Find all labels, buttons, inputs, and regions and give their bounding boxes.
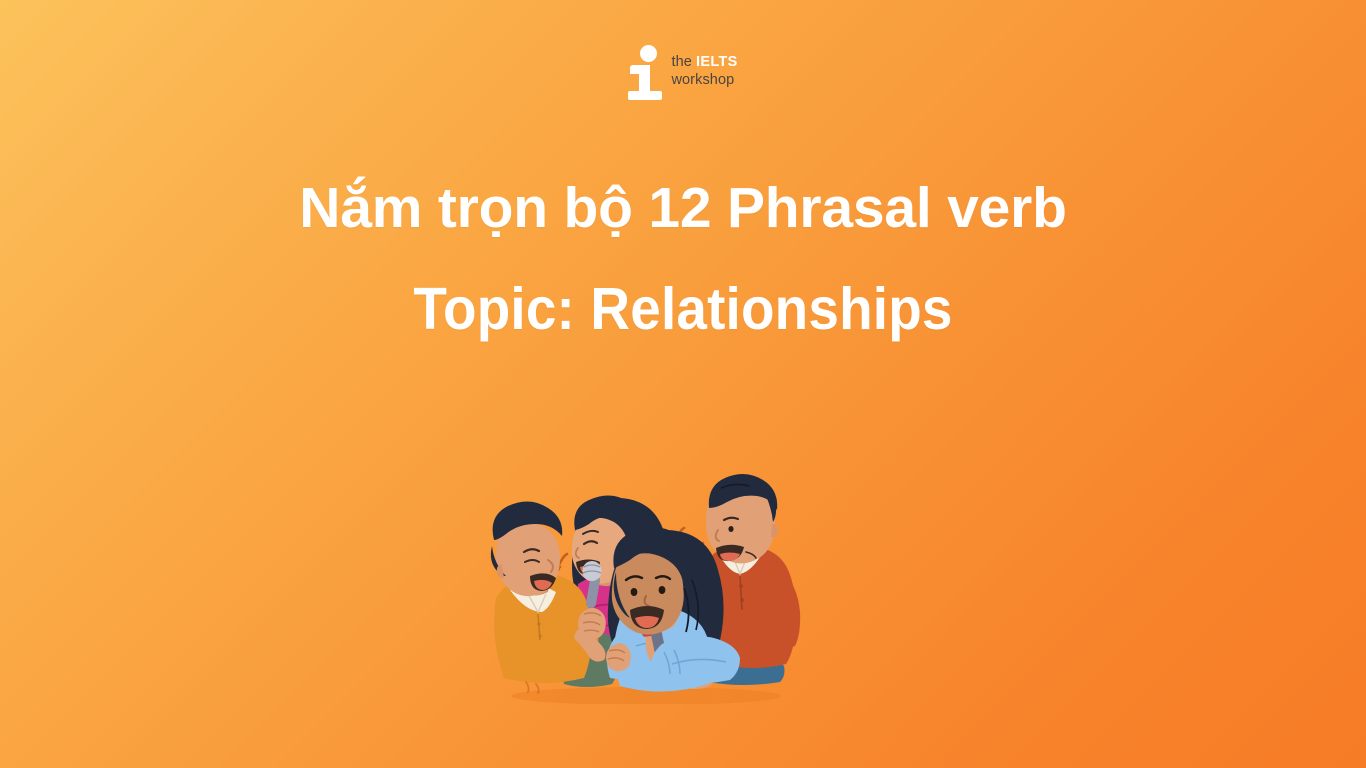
logo-foot-shape	[628, 91, 662, 100]
page-title: Nắm trọn bộ 12 Phrasal verb	[0, 176, 1366, 242]
brand-logo-inner: the IELTS workshop	[628, 44, 737, 100]
ielts-workshop-i-mark-icon	[628, 44, 662, 100]
heading-group: Nắm trọn bộ 12 Phrasal verb Topic: Relat…	[0, 176, 1366, 342]
logo-dot-shape	[640, 45, 657, 62]
logo-stem-shape	[639, 65, 650, 94]
slide-canvas: the IELTS workshop Nắm trọn bộ 12 Phrasa…	[0, 0, 1366, 768]
brand-logo-the: the	[671, 54, 696, 70]
karaoke-friends-illustration	[466, 468, 826, 704]
brand-logo-ielts: IELTS	[696, 54, 738, 70]
page-subtitle: Topic: Relationships	[48, 242, 1318, 342]
brand-logo-workshop: workshop	[671, 72, 737, 90]
brand-logo-line-1: the IELTS	[671, 54, 737, 72]
brand-logo-text: the IELTS workshop	[671, 54, 737, 90]
brand-logo: the IELTS workshop	[0, 44, 1366, 100]
